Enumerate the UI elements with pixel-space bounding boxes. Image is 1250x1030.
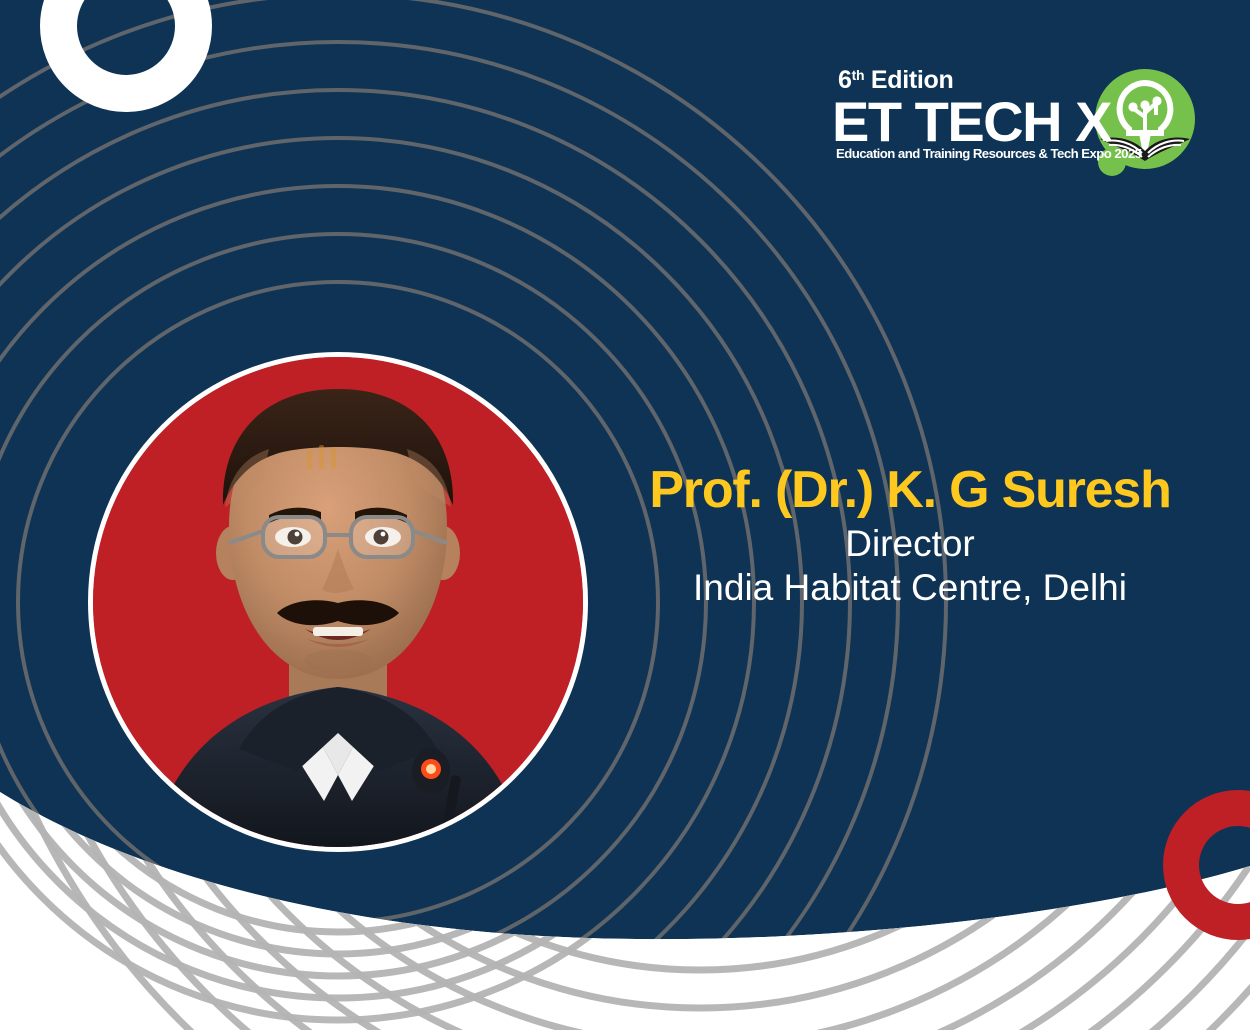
speaker-details: Prof. (Dr.) K. G Suresh Director India H…: [590, 462, 1230, 609]
speaker-announcement-poster: 6th Edition ET TECH X Education and Trai…: [0, 0, 1250, 1030]
speaker-organization: India Habitat Centre, Delhi: [590, 566, 1230, 610]
event-logo: 6th Edition ET TECH X Education and Trai…: [832, 66, 1204, 174]
avatar-frame: [88, 352, 588, 852]
avatar: [88, 352, 588, 852]
speaker-name: Prof. (Dr.) K. G Suresh: [590, 462, 1230, 518]
logo-tagline-text: Education and Training Resources & Tech …: [836, 146, 1114, 161]
logo-tagline: Education and Training Resources & Tech …: [836, 146, 1142, 161]
edition-ordinal-suffix: th: [852, 67, 865, 83]
speaker-portrait: [93, 357, 583, 847]
logo-tagline-year: 2025: [1114, 146, 1141, 161]
speaker-role: Director: [590, 522, 1230, 566]
logo-wordmark: ET TECH X: [832, 94, 1111, 150]
